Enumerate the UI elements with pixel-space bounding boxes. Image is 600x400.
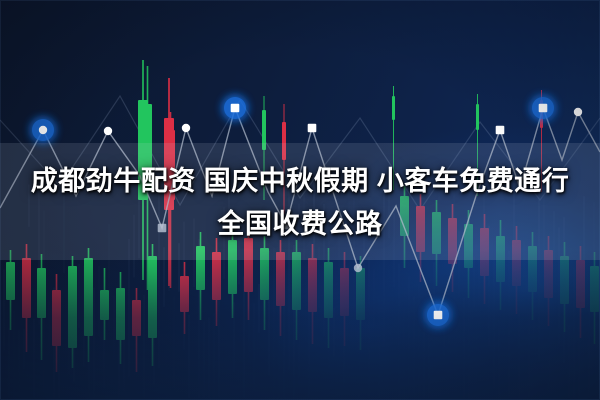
promo-banner: 成都劲牛配资 国庆中秋假期 小客车免费通行全国收费公路 — [0, 0, 600, 400]
page-title: 成都劲牛配资 国庆中秋假期 小客车免费通行全国收费公路 — [0, 160, 600, 246]
